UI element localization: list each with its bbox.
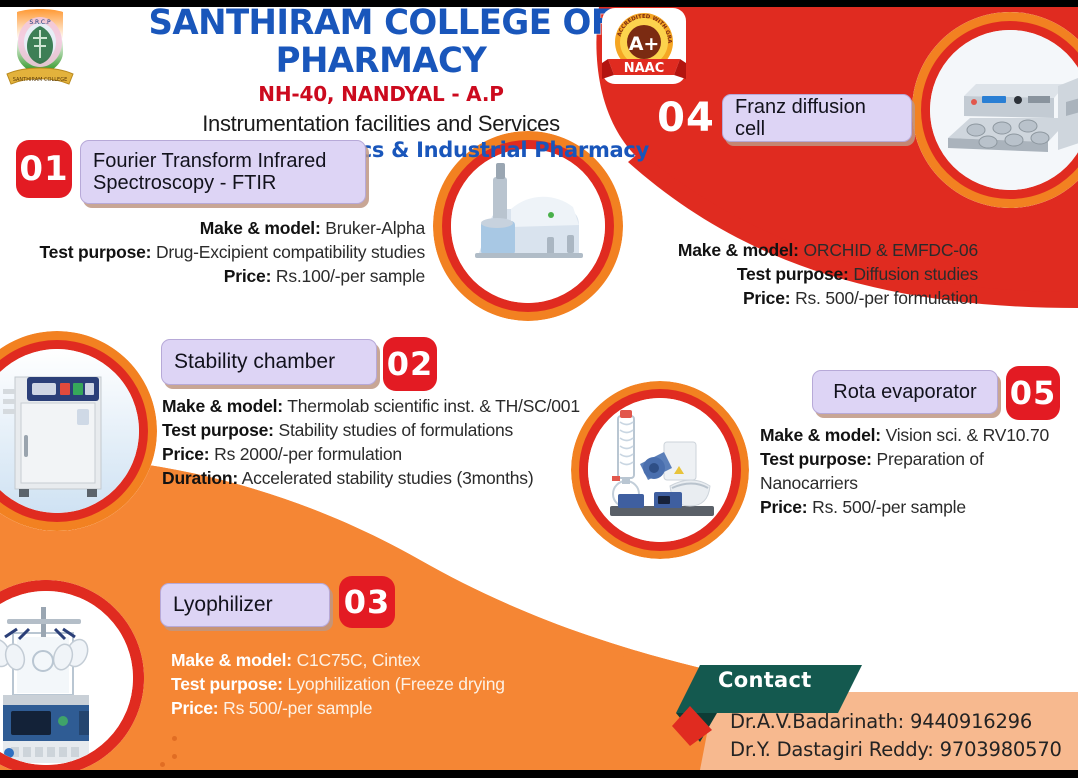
naac-accreditation-badge: A+ ACCREDITED WITH GRADE NAAC — [600, 7, 688, 85]
item-number-03: 03 — [339, 576, 395, 628]
item-title-01: Fourier Transform Infrared Spectroscopy … — [93, 150, 353, 194]
contact-person-1: Dr.A.V.Badarinath: 9440916296 — [730, 708, 1062, 736]
detail-price-03: Price: Rs 500/-per sample — [171, 696, 591, 720]
detail-make-04: Make & model: ORCHID & EMFDC-06 — [600, 238, 978, 262]
rota-evaporator-photo — [588, 398, 732, 542]
svg-text:SANTHIRAM COLLEGE: SANTHIRAM COLLEGE — [13, 77, 68, 83]
svg-text:A+: A+ — [629, 33, 660, 55]
item-title-pill-02: Stability chamber — [161, 339, 377, 385]
item-title-03: Lyophilizer — [173, 594, 273, 616]
detail-price-01: Price: Rs.100/-per sample — [0, 264, 425, 288]
item-title-04: Franz diffusion cell — [735, 96, 899, 140]
item-title-02: Stability chamber — [174, 351, 335, 373]
item-title-pill-01: Fourier Transform Infrared Spectroscopy … — [80, 140, 366, 204]
letterbox-bottom — [0, 770, 1078, 778]
item-details-01: Make & model: Bruker-Alpha Test purpose:… — [0, 216, 425, 288]
item-number-04: 04 — [655, 92, 717, 144]
item-details-02: Make & model: Thermolab scientific inst.… — [162, 394, 582, 490]
letterbox-top — [0, 0, 1078, 7]
franz-diffusion-cell-photo — [930, 30, 1078, 190]
detail-make-05: Make & model: Vision sci. & RV10.70 — [760, 423, 1078, 447]
item-details-03: Make & model: C1C75C, Cintex Test purpos… — [171, 648, 591, 720]
contact-block: Contact Dr.A.V.Badarinath: 9440916296 Dr… — [700, 660, 1078, 770]
detail-purpose-04: Test purpose: Diffusion studies — [600, 262, 978, 286]
item-number-01: 01 — [16, 140, 72, 198]
contact-details: Dr.A.V.Badarinath: 9440916296 Dr.Y. Dast… — [730, 708, 1062, 764]
poster-canvas: SANTHIRAM COLLEGE OF PHARMACY NH-40, NAN… — [0, 0, 1078, 778]
decorative-dots — [160, 736, 220, 770]
detail-purpose-02: Test purpose: Stability studies of formu… — [162, 418, 582, 442]
item-title-05: Rota evaporator — [833, 381, 976, 403]
detail-purpose-01: Test purpose: Drug-Excipient compatibili… — [0, 240, 425, 264]
contact-person-2: Dr.Y. Dastagiri Reddy: 9703980570 — [730, 736, 1062, 764]
detail-price-05: Price: Rs. 500/-per sample — [760, 495, 1078, 519]
detail-price-02: Price: Rs 2000/-per formulation — [162, 442, 582, 466]
item-title-pill-04: Franz diffusion cell — [722, 94, 912, 142]
detail-price-04: Price: Rs. 500/-per formulation — [600, 286, 978, 310]
poster-header: SANTHIRAM COLLEGE OF PHARMACY NH-40, NAN… — [0, 4, 700, 162]
college-crest-icon: S.R.C.P EST - 1994 SANTHIRAM COLLEGE — [3, 6, 77, 86]
contact-heading: Contact — [718, 668, 812, 692]
detail-make-01: Make & model: Bruker-Alpha — [0, 216, 425, 240]
item-details-05: Make & model: Vision sci. & RV10.70 Test… — [760, 423, 1078, 519]
detail-purpose-05: Test purpose: Preparation of Nanocarrier… — [760, 447, 1078, 495]
college-address: NH-40, NANDYAL - A.P — [62, 82, 700, 106]
item-details-04: Make & model: ORCHID & EMFDC-06 Test pur… — [600, 238, 978, 310]
item-number-02: 02 — [383, 337, 437, 391]
college-name: SANTHIRAM COLLEGE OF PHARMACY — [72, 4, 691, 80]
item-title-pill-05: Rota evaporator — [812, 370, 998, 414]
ftir-spectrometer-photo — [451, 149, 605, 303]
item-title-pill-03: Lyophilizer — [160, 583, 330, 627]
item-number-05: 05 — [1006, 366, 1060, 420]
svg-text:S.R.C.P: S.R.C.P — [29, 19, 51, 26]
detail-make-03: Make & model: C1C75C, Cintex — [171, 648, 591, 672]
poster-subtitle-services: Instrumentation facilities and Services — [62, 111, 700, 137]
detail-make-02: Make & model: Thermolab scientific inst.… — [162, 394, 582, 418]
detail-duration-02: Duration: Accelerated stability studies … — [162, 466, 582, 490]
item-photo-05 — [571, 381, 749, 559]
detail-purpose-03: Test purpose: Lyophilization (Freeze dry… — [171, 672, 591, 696]
svg-text:NAAC: NAAC — [624, 61, 665, 76]
